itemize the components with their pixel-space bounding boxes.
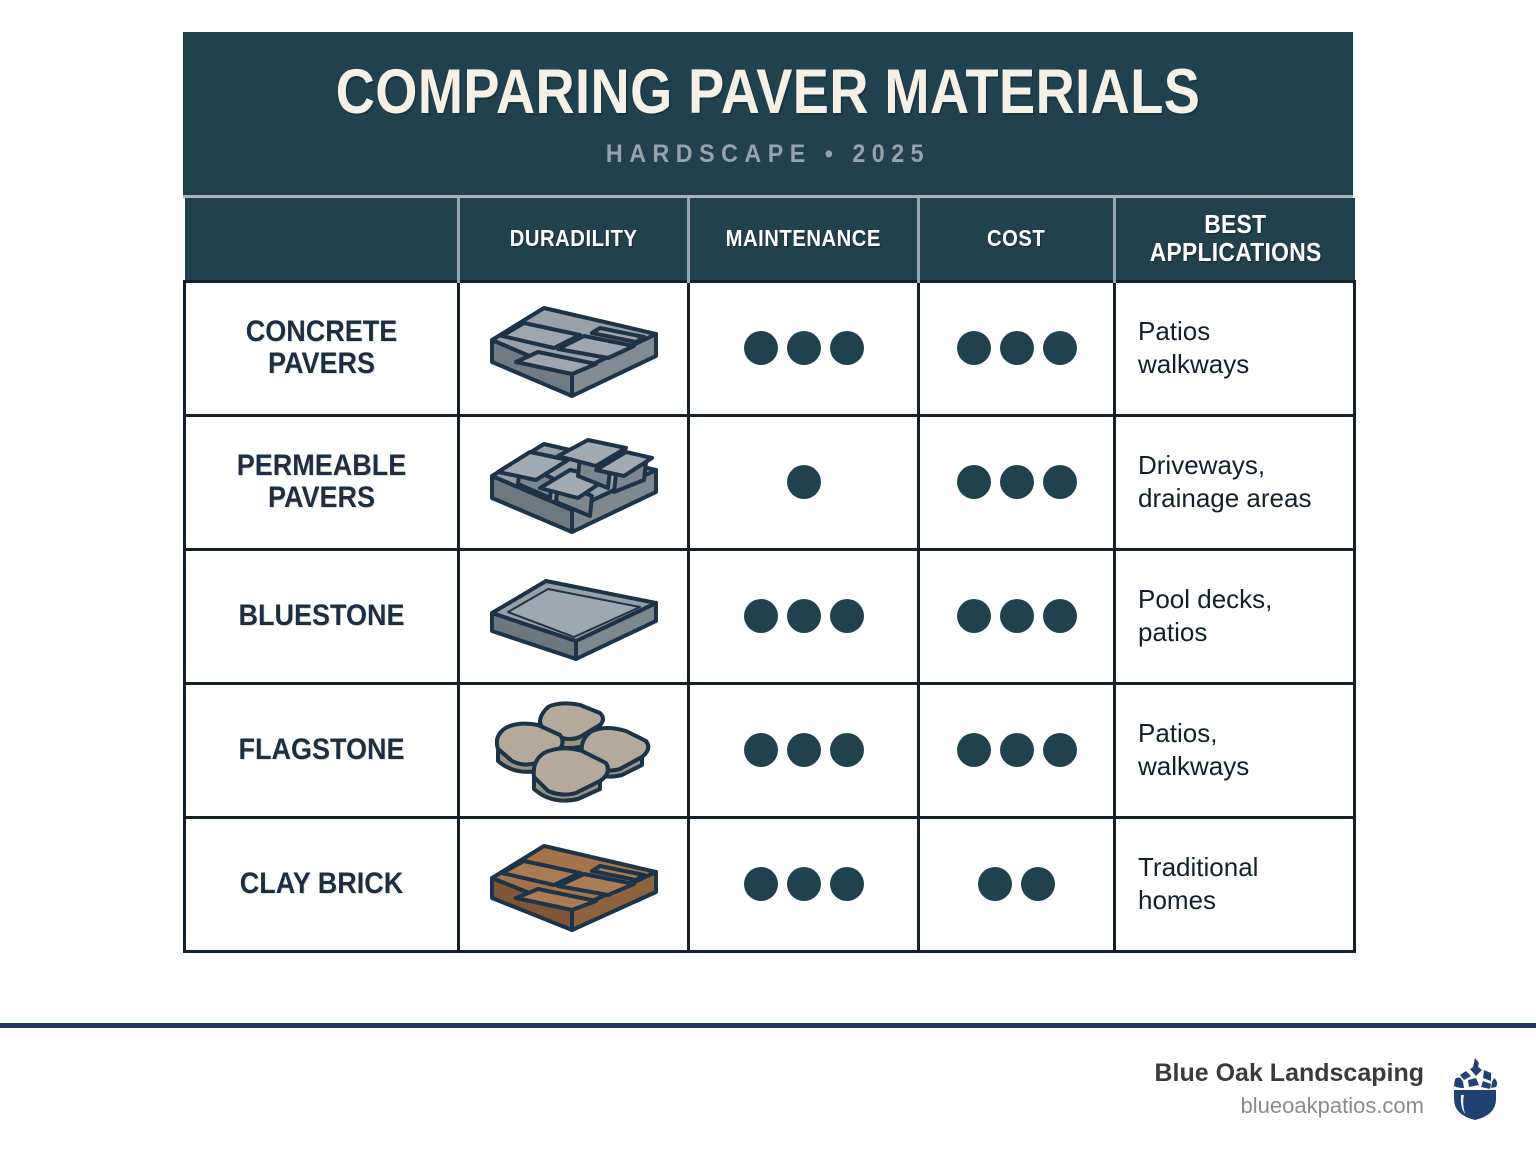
rating-dot xyxy=(1000,331,1034,365)
rating-dot xyxy=(1043,331,1077,365)
durability-cell xyxy=(459,281,689,415)
cost-rating xyxy=(920,599,1113,633)
maintenance-rating xyxy=(690,733,917,767)
rating-dot xyxy=(787,465,821,499)
table-row: CONCRETE PAVERS xyxy=(185,281,1355,415)
material-name-line1: BLUESTONE xyxy=(238,599,404,632)
applications-line2: homes xyxy=(1138,885,1216,915)
material-name-line1: PERMEABLE xyxy=(237,449,407,482)
title-band: COMPARING PAVER MATERIALS HARDSCAPE • 20… xyxy=(183,32,1353,198)
maintenance-rating xyxy=(690,331,917,365)
material-name-line2: PAVERS xyxy=(268,481,375,514)
permeable-paver-block-icon xyxy=(484,428,664,536)
durability-cell xyxy=(459,683,689,817)
applications-cell: Traditional homes xyxy=(1115,817,1355,951)
cost-cell xyxy=(919,281,1115,415)
rating-dot xyxy=(957,465,991,499)
header-maintenance: MAINTENANCE xyxy=(689,198,919,282)
durability-cell xyxy=(459,415,689,549)
rating-dot xyxy=(957,331,991,365)
brand-name: Blue Oak Landscaping xyxy=(1154,1058,1424,1089)
material-name-line1: FLAGSTONE xyxy=(238,733,404,766)
rating-dot xyxy=(830,867,864,901)
cost-cell xyxy=(919,817,1115,951)
material-name-line2: PAVERS xyxy=(268,347,375,380)
concrete-paver-block-icon xyxy=(484,296,664,400)
maintenance-cell xyxy=(689,281,919,415)
rating-dot xyxy=(1043,733,1077,767)
rating-dot xyxy=(978,867,1012,901)
flagstone-cluster-icon xyxy=(484,695,664,805)
infographic-card: COMPARING PAVER MATERIALS HARDSCAPE • 20… xyxy=(183,32,1353,953)
header-cost: COST xyxy=(919,198,1115,282)
rating-dot xyxy=(787,867,821,901)
cost-cell xyxy=(919,683,1115,817)
maintenance-cell xyxy=(689,817,919,951)
rating-dot xyxy=(787,599,821,633)
cost-cell xyxy=(919,415,1115,549)
rating-dot xyxy=(1043,465,1077,499)
rating-dot xyxy=(1043,599,1077,633)
durability-cell xyxy=(459,549,689,683)
applications-cell: Patios, walkways xyxy=(1115,683,1355,817)
cost-rating xyxy=(920,867,1113,901)
rating-dot xyxy=(830,733,864,767)
page-title: COMPARING PAVER MATERIALS xyxy=(282,62,1254,124)
header-durability: DURADILITY xyxy=(459,198,689,282)
rating-dot xyxy=(830,331,864,365)
material-name-cell: FLAGSTONE xyxy=(185,683,459,817)
material-name-cell: CLAY BRICK xyxy=(185,817,459,951)
clay-brick-block-icon xyxy=(484,834,664,934)
rating-dot xyxy=(787,733,821,767)
material-name-line1: CLAY BRICK xyxy=(240,867,404,900)
rating-dot xyxy=(1000,465,1034,499)
table-row: PERMEABLE PAVERS xyxy=(185,415,1355,549)
table-row: BLUESTONE xyxy=(185,549,1355,683)
website-url: blueoakpatios.com xyxy=(1154,1092,1424,1121)
maintenance-rating xyxy=(690,867,917,901)
header-material xyxy=(185,198,459,282)
applications-line2: walkways xyxy=(1138,349,1249,379)
rating-dot xyxy=(744,599,778,633)
cost-rating xyxy=(920,465,1113,499)
bluestone-slab-icon xyxy=(484,569,664,663)
header-durability-label: DURADILITY xyxy=(510,226,638,250)
table-header: DURADILITY MAINTENANCE COST BEST APPLICA… xyxy=(185,198,1355,282)
cost-cell xyxy=(919,549,1115,683)
applications-cell: Driveways, drainage areas xyxy=(1115,415,1355,549)
rating-dot xyxy=(957,599,991,633)
header-applications-line1: BEST xyxy=(1204,211,1266,238)
rating-dot xyxy=(1000,733,1034,767)
applications-line2: drainage areas xyxy=(1138,483,1311,513)
footer-text-group: Blue Oak Landscaping blueoakpatios.com xyxy=(1154,1058,1424,1121)
applications-line1: Traditional xyxy=(1138,852,1258,882)
applications-line1: Patios, xyxy=(1138,718,1218,748)
material-name-cell: PERMEABLE PAVERS xyxy=(185,415,459,549)
header-best-applications: BEST APPLICATIONS xyxy=(1115,198,1355,282)
table-row: FLAGSTONE xyxy=(185,683,1355,817)
durability-cell xyxy=(459,817,689,951)
applications-line1: Driveways, xyxy=(1138,450,1265,480)
cost-rating xyxy=(920,331,1113,365)
rating-dot xyxy=(744,733,778,767)
maintenance-cell xyxy=(689,549,919,683)
footer: Blue Oak Landscaping blueoakpatios.com xyxy=(1154,1055,1504,1123)
maintenance-rating xyxy=(690,465,917,499)
footer-divider xyxy=(0,1023,1536,1028)
paver-comparison-table: DURADILITY MAINTENANCE COST BEST APPLICA… xyxy=(183,198,1356,953)
applications-cell: Pool decks, patios xyxy=(1115,549,1355,683)
applications-line2: walkways xyxy=(1138,751,1249,781)
maintenance-rating xyxy=(690,599,917,633)
header-cost-label: COST xyxy=(987,226,1045,250)
material-name-cell: BLUESTONE xyxy=(185,549,459,683)
applications-line2: patios xyxy=(1138,617,1207,647)
maintenance-cell xyxy=(689,683,919,817)
acorn-logo-icon xyxy=(1446,1055,1504,1123)
header-maintenance-label: MAINTENANCE xyxy=(726,226,881,250)
rating-dot xyxy=(1000,599,1034,633)
material-name-line1: CONCRETE xyxy=(246,315,398,348)
header-applications-line2: APPLICATIONS xyxy=(1149,239,1321,266)
table-body: CONCRETE PAVERS xyxy=(185,281,1355,951)
rating-dot xyxy=(957,733,991,767)
table-row: CLAY BRICK xyxy=(185,817,1355,951)
page-subtitle: HARDSCAPE • 2025 xyxy=(243,140,1294,169)
cost-rating xyxy=(920,733,1113,767)
applications-cell: Patios walkways xyxy=(1115,281,1355,415)
header-row: DURADILITY MAINTENANCE COST BEST APPLICA… xyxy=(185,198,1355,282)
rating-dot xyxy=(744,331,778,365)
rating-dot xyxy=(1021,867,1055,901)
material-name-cell: CONCRETE PAVERS xyxy=(185,281,459,415)
maintenance-cell xyxy=(689,415,919,549)
applications-line1: Patios xyxy=(1138,316,1210,346)
rating-dot xyxy=(830,599,864,633)
rating-dot xyxy=(787,331,821,365)
applications-line1: Pool decks, xyxy=(1138,584,1272,614)
rating-dot xyxy=(744,867,778,901)
